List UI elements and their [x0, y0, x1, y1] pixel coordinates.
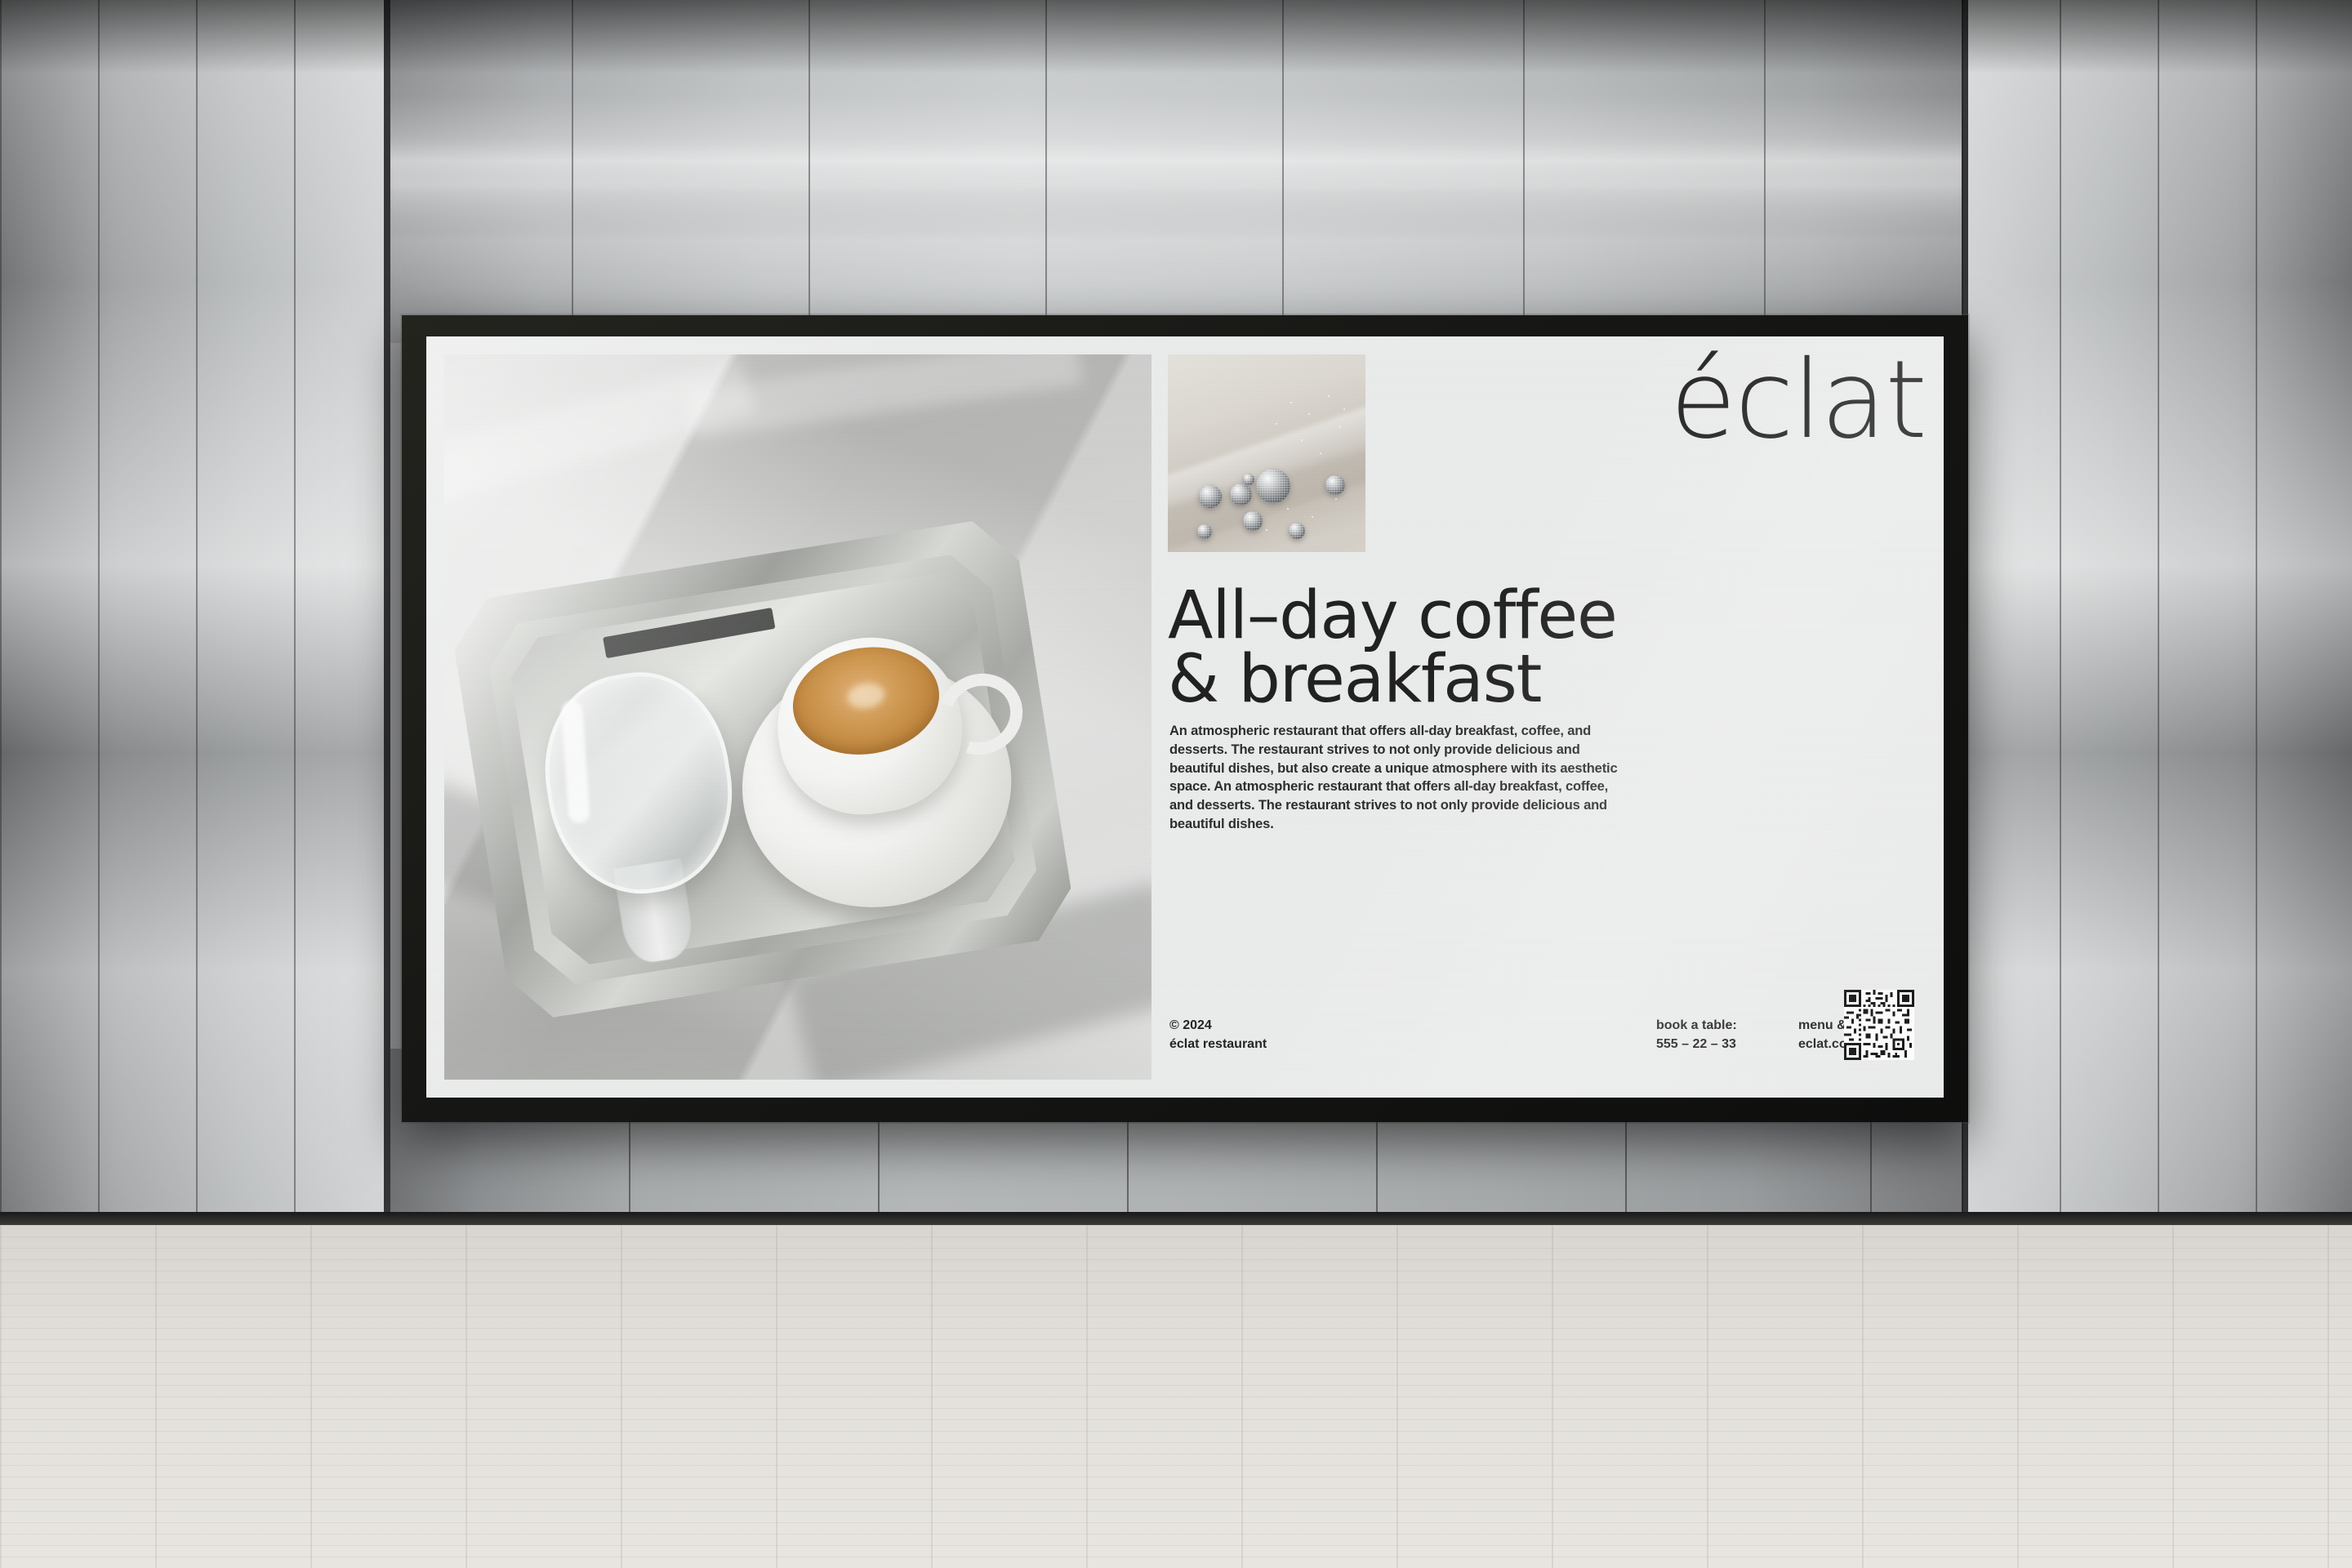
- poster-headline: All–day coffee & breakfast: [1168, 585, 1926, 712]
- silver-tray: [448, 514, 1079, 1023]
- elevator-floor: [0, 1225, 2352, 1568]
- ceiling-shadow: [0, 0, 2352, 73]
- copyright-block: © 2024 éclat restaurant: [1169, 1016, 1267, 1053]
- copyright-year: © 2024: [1169, 1016, 1267, 1035]
- poster-surface: éclat All–day coffee & breakfast An atmo…: [426, 336, 1944, 1098]
- qr-code-icon[interactable]: [1844, 990, 1914, 1060]
- poster-footer: © 2024 éclat restaurant book a table: 55…: [1168, 1006, 1926, 1071]
- elevator-scene: éclat All–day coffee & breakfast An atmo…: [0, 0, 2352, 1568]
- book-a-table-block[interactable]: book a table: 555 – 22 – 33: [1656, 1016, 1737, 1053]
- book-a-table-label: book a table:: [1656, 1016, 1737, 1035]
- floor-skirting: [0, 1212, 2352, 1225]
- main-photo-coffee-tray: [444, 354, 1151, 1080]
- poster-body-text: An atmospheric restaurant that offers al…: [1169, 722, 1635, 834]
- book-a-table-phone[interactable]: 555 – 22 – 33: [1656, 1035, 1737, 1053]
- wall-corner-left: [384, 0, 390, 1307]
- secondary-photo-disco-balls: [1168, 354, 1365, 552]
- poster-frame[interactable]: éclat All–day coffee & breakfast An atmo…: [402, 315, 1968, 1122]
- brand-logo: éclat: [1670, 351, 1926, 450]
- copyright-name: éclat restaurant: [1169, 1035, 1267, 1053]
- poster-right-column: éclat All–day coffee & breakfast An atmo…: [1168, 354, 1926, 1080]
